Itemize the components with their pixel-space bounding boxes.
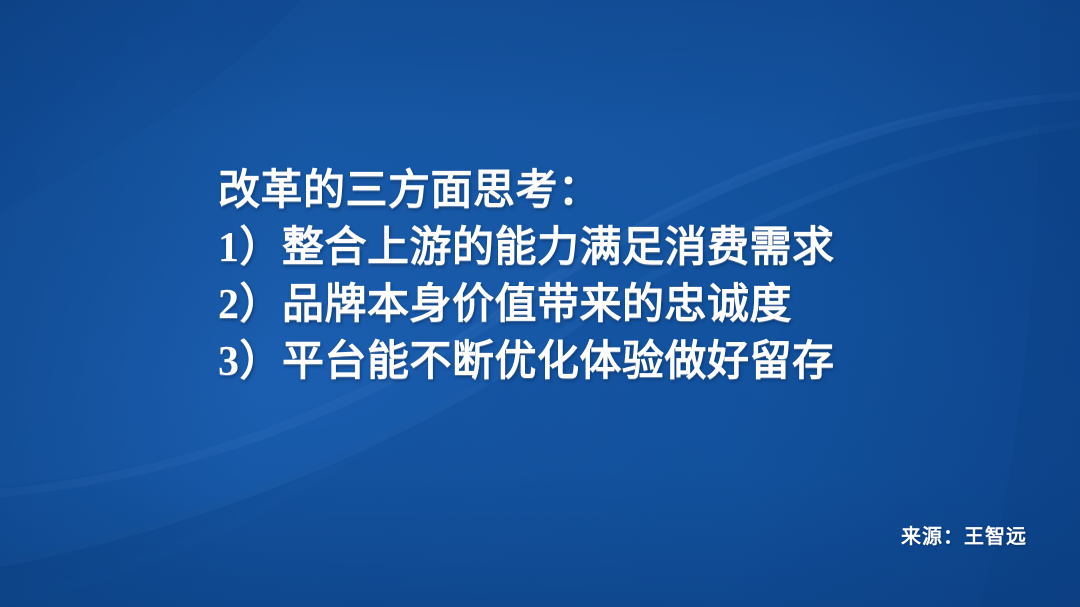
bullet-item-2: 2）品牌本身价值带来的忠诚度	[218, 277, 1018, 334]
slide-text-block: 改革的三方面思考： 1）整合上游的能力满足消费需求 2）品牌本身价值带来的忠诚度…	[218, 163, 1018, 391]
source-attribution: 来源：王智远	[901, 520, 1027, 549]
bullet-item-3: 3）平台能不断优化体验做好留存	[218, 334, 1018, 391]
bullet-item-1: 1）整合上游的能力满足消费需求	[218, 220, 1018, 277]
slide-title: 改革的三方面思考：	[218, 163, 1018, 220]
slide-canvas: 改革的三方面思考： 1）整合上游的能力满足消费需求 2）品牌本身价值带来的忠诚度…	[0, 0, 1080, 607]
